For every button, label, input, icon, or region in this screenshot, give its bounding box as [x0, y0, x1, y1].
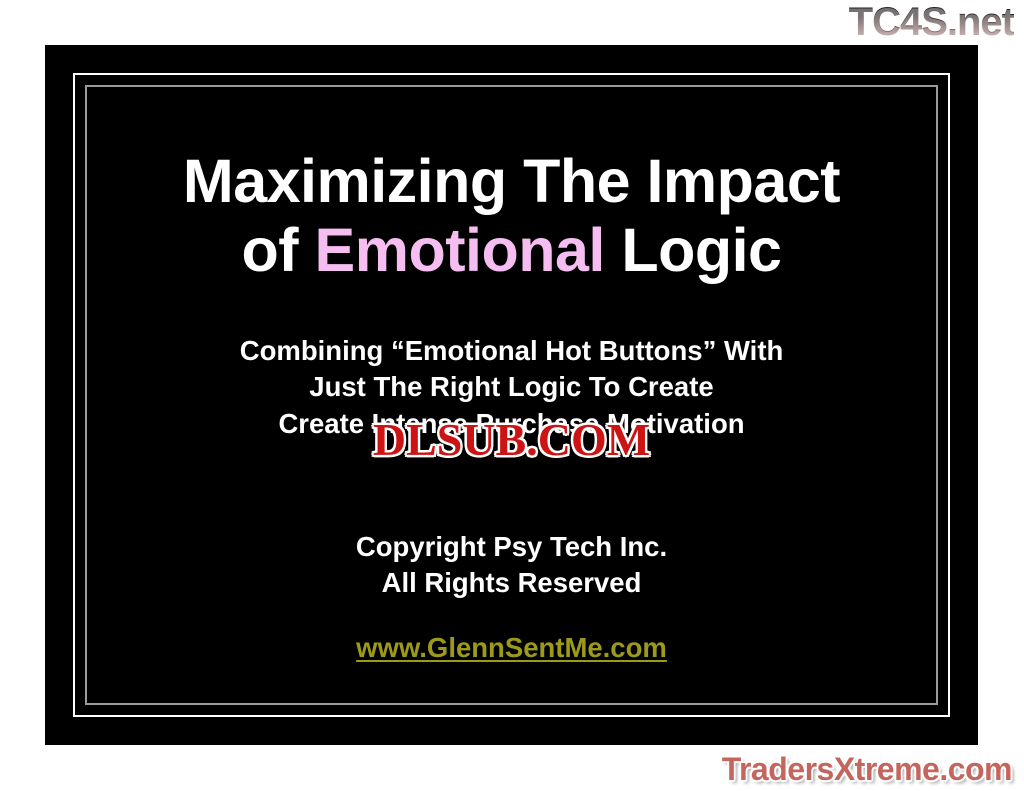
- presentation-slide: Maximizing The Impact of Emotional Logic…: [45, 45, 978, 745]
- slide-subtitle-line-2: Just The Right Logic To Create: [95, 369, 928, 406]
- slide-title-line-2-prefix: of: [242, 216, 315, 284]
- website-link[interactable]: www.GlennSentMe.com: [356, 632, 667, 664]
- watermark-dlsub: DLSUB.COM: [373, 417, 650, 463]
- slide-title-line-2-suffix: Logic: [605, 216, 782, 284]
- slide-title-line-1: Maximizing The Impact: [95, 147, 928, 216]
- slide-copyright-line-1: Copyright Psy Tech Inc.: [95, 529, 928, 566]
- slide-subtitle-line-1: Combining “Emotional Hot Buttons” With: [95, 333, 928, 370]
- slide-title-accent-emotional: Emotional: [315, 216, 605, 284]
- slide-title-line-2: of Emotional Logic: [95, 216, 928, 285]
- slide-title: Maximizing The Impact of Emotional Logic: [95, 95, 928, 285]
- slide-content: Maximizing The Impact of Emotional Logic…: [95, 95, 928, 695]
- slide-copyright: Copyright Psy Tech Inc. All Rights Reser…: [95, 443, 928, 602]
- watermark-tradersxtreme: TradersXtreme.com: [722, 753, 1012, 785]
- slide-copyright-line-2: All Rights Reserved: [95, 565, 928, 602]
- watermark-tc4s: TC4S.net: [849, 2, 1014, 42]
